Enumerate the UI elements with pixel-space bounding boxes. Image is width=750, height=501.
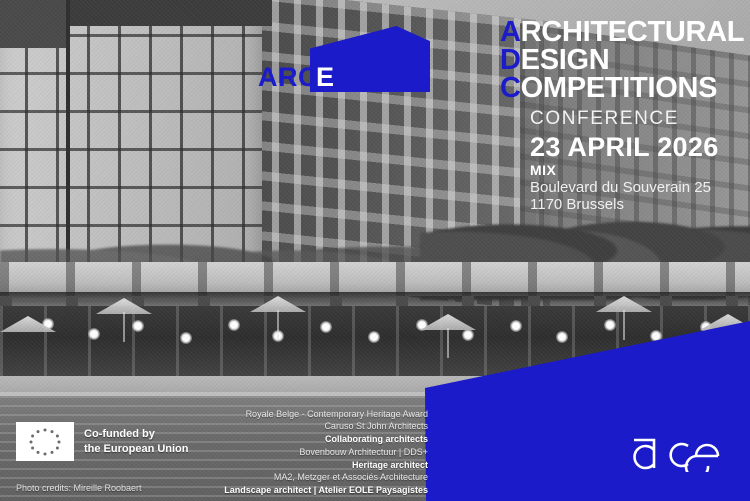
conference-label: CONFERENCE: [530, 108, 719, 130]
headline-line-1: ARCHITECTURAL: [500, 18, 744, 46]
venue-block: MIX Boulevard du Souverain 25 1170 Bruss…: [530, 162, 711, 214]
headline-line-3: COMPETITIONS: [500, 74, 744, 102]
credit-line: Royale Belge - Contemporary Heritage Awa…: [188, 408, 428, 421]
headline-rest-3: OMPETITIONS: [521, 72, 718, 104]
credit-line: Caruso St John Architects: [188, 420, 428, 433]
headline-cap-c: C: [500, 72, 521, 104]
credit-line: Landscape architect | Atelier EOLE Paysa…: [188, 484, 428, 497]
conference-date: 23 APRIL 2026: [530, 132, 719, 163]
arche-logo-letter: E: [316, 64, 334, 91]
venue-city: 1170 Brussels: [530, 196, 711, 214]
venue-name: MIX: [530, 162, 711, 179]
eu-funding-line-2: the European Union: [84, 442, 189, 456]
headline-line-2: DESIGN: [500, 46, 744, 74]
eu-flag-icon: [16, 422, 74, 461]
credit-line: Collaborating architects: [188, 433, 428, 446]
venue-street: Boulevard du Souverain 25: [530, 179, 711, 197]
project-credits: Royale Belge - Contemporary Heritage Awa…: [188, 408, 428, 497]
eu-funding-line-1: Co-funded by: [84, 427, 189, 441]
eu-funding-text: Co-funded by the European Union: [84, 427, 189, 456]
arche-logo[interactable]: ARCH E: [258, 26, 430, 92]
tower-roof-band: [62, 0, 272, 26]
eu-funding-badge: Co-funded by the European Union: [16, 422, 189, 461]
terrace-parasols: [0, 294, 750, 340]
conference-poster: ARCH E ARCHITECTURAL DESIGN COMPETITIONS…: [0, 0, 750, 501]
credit-line: Bovenbouw Architectuur | DDS+: [188, 446, 428, 459]
credit-line: MA2, Metzger et Associés Architecture: [188, 471, 428, 484]
tower-corner-block: [0, 0, 70, 48]
photo-credit: Photo credits: Mireille Roobaert: [16, 483, 142, 493]
ace-logo-icon: [630, 430, 722, 472]
credit-line: Heritage architect: [188, 459, 428, 472]
ace-logo[interactable]: [630, 430, 722, 472]
colonnade-piers: [0, 262, 750, 296]
conference-block: CONFERENCE 23 APRIL 2026: [530, 108, 719, 163]
poster-headline: ARCHITECTURAL DESIGN COMPETITIONS: [500, 18, 744, 102]
